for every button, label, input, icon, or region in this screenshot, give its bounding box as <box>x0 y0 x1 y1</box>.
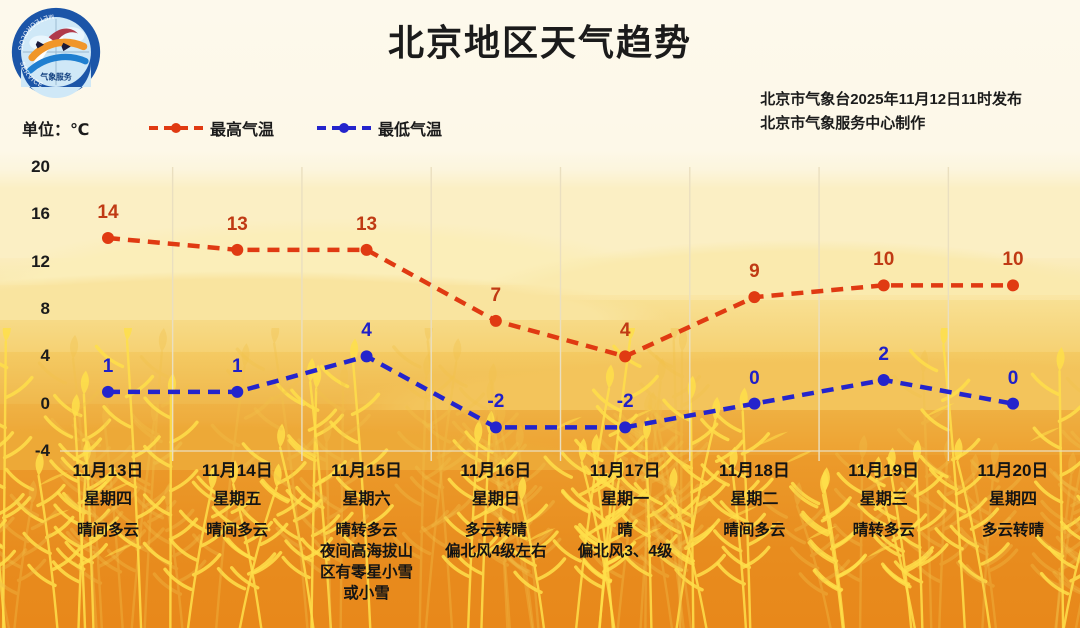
day-date: 11月18日 <box>694 460 814 481</box>
day-condition: 多云转晴 <box>953 521 1073 542</box>
low-temp-label: 1 <box>232 356 243 378</box>
day-condition: 多云转晴 偏北风4级左右 <box>436 521 556 563</box>
low-temp-label: 0 <box>749 368 760 390</box>
high-temp-label: 14 <box>97 202 118 224</box>
high-temp-label: 9 <box>749 261 760 283</box>
day-column-1: 11月13日星期四晴间多云 <box>48 460 168 542</box>
day-column-8: 11月20日星期四多云转晴 <box>953 460 1073 542</box>
high-temp-label: 4 <box>620 320 631 342</box>
day-weekday: 星期日 <box>436 490 556 510</box>
day-date: 11月15日 <box>307 460 427 481</box>
day-condition: 晴转多云 夜间高海拔山 区有零星小雪 或小雪 <box>307 521 427 605</box>
day-weekday: 星期四 <box>953 490 1073 510</box>
high-temp-label: 10 <box>873 249 894 271</box>
day-condition: 晴间多云 <box>694 521 814 542</box>
day-weekday: 星期三 <box>824 490 944 510</box>
low-temp-label: -2 <box>617 391 634 413</box>
day-weekday: 星期二 <box>694 490 814 510</box>
low-temp-label: 0 <box>1008 368 1019 390</box>
day-column-2: 11月14日星期五晴间多云 <box>177 460 297 542</box>
day-column-6: 11月18日星期二晴间多云 <box>694 460 814 542</box>
day-date: 11月19日 <box>824 460 944 481</box>
day-weekday: 星期五 <box>177 490 297 510</box>
high-temp-label: 13 <box>356 214 377 236</box>
day-weekday: 星期六 <box>307 490 427 510</box>
high-temp-label: 13 <box>227 214 248 236</box>
high-temp-label: 7 <box>491 285 502 307</box>
low-temp-label: -2 <box>487 391 504 413</box>
day-date: 11月14日 <box>177 460 297 481</box>
day-column-4: 11月16日星期日多云转晴 偏北风4级左右 <box>436 460 556 563</box>
day-weekday: 星期四 <box>48 490 168 510</box>
day-date: 11月20日 <box>953 460 1073 481</box>
day-date: 11月17日 <box>565 460 685 481</box>
x-axis-day-columns: 11月13日星期四晴间多云11月14日星期五晴间多云11月15日星期六晴转多云 … <box>0 460 1080 628</box>
low-temp-label: 1 <box>103 356 114 378</box>
day-condition: 晴转多云 <box>824 521 944 542</box>
day-column-3: 11月15日星期六晴转多云 夜间高海拔山 区有零星小雪 或小雪 <box>307 460 427 605</box>
day-column-5: 11月17日星期一晴 偏北风3、4级 <box>565 460 685 563</box>
day-date: 11月13日 <box>48 460 168 481</box>
low-temp-label: 2 <box>878 344 889 366</box>
day-weekday: 星期一 <box>565 490 685 510</box>
high-temp-label: 10 <box>1002 249 1023 271</box>
day-date: 11月16日 <box>436 460 556 481</box>
day-condition: 晴间多云 <box>48 521 168 542</box>
day-condition: 晴间多云 <box>177 521 297 542</box>
day-condition: 晴 偏北风3、4级 <box>565 521 685 563</box>
low-temp-label: 4 <box>361 320 372 342</box>
day-column-7: 11月19日星期三晴转多云 <box>824 460 944 542</box>
